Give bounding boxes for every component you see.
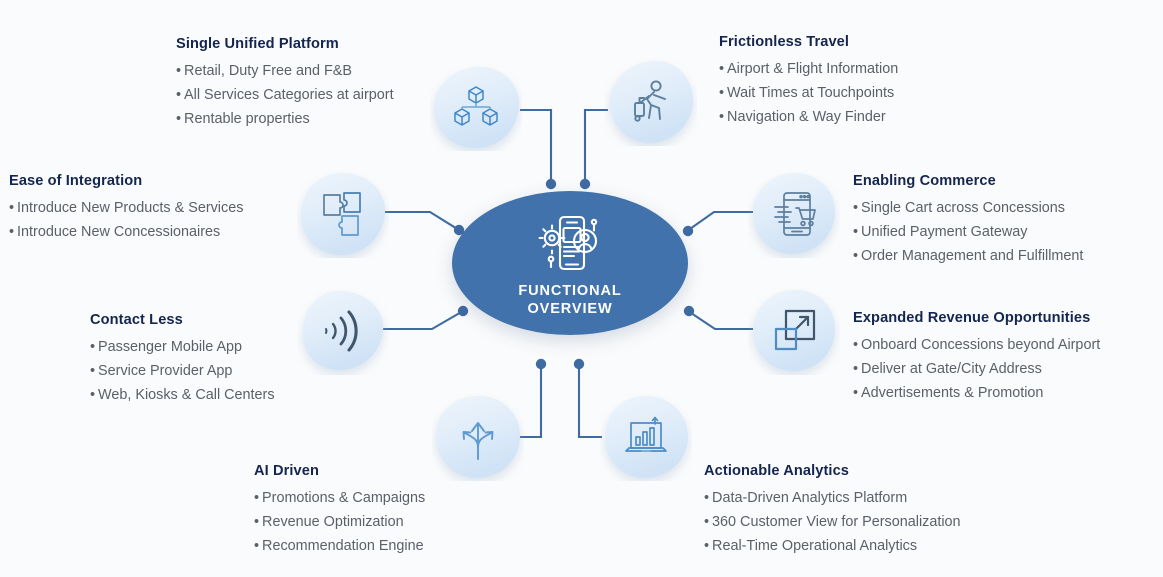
- icon-bubble-ease-of-integration[interactable]: [297, 170, 389, 258]
- expand-arrow-icon: [770, 307, 818, 355]
- puzzle-pieces-icon: [319, 190, 367, 238]
- bullets-enabling-commerce: •Single Cart across Concessions •Unified…: [853, 196, 1083, 268]
- bullet-text: Web, Kiosks & Call Centers: [98, 387, 274, 403]
- center-node-functional-overview[interactable]: FUNCTIONAL OVERVIEW: [452, 191, 688, 335]
- bullet-text: Single Cart across Concessions: [861, 200, 1065, 216]
- list-item: •Onboard Concessions beyond Airport: [853, 333, 1100, 357]
- bullet-glyph: •: [853, 385, 858, 401]
- list-item: •Airport & Flight Information: [719, 57, 898, 81]
- center-label-line1: FUNCTIONAL: [518, 283, 621, 299]
- bullet-glyph: •: [704, 538, 709, 554]
- text-block-enabling-commerce: Enabling Commerce •Single Cart across Co…: [853, 173, 1083, 268]
- bullet-glyph: •: [704, 490, 709, 506]
- bullet-text: All Services Categories at airport: [184, 87, 394, 103]
- bullet-glyph: •: [176, 87, 181, 103]
- branching-arrows-icon: [454, 413, 502, 461]
- text-block-expanded-revenue-opportunities: Expanded Revenue Opportunities •Onboard …: [853, 310, 1100, 405]
- bullet-text: Introduce New Products & Services: [17, 200, 243, 216]
- bullet-glyph: •: [853, 224, 858, 240]
- center-label-line2: OVERVIEW: [527, 301, 612, 317]
- bullet-text: 360 Customer View for Personalization: [712, 514, 961, 530]
- bullet-text: Onboard Concessions beyond Airport: [861, 337, 1100, 353]
- bullet-text: Wait Times at Touchpoints: [727, 85, 894, 101]
- bullet-glyph: •: [853, 337, 858, 353]
- bullet-text: Promotions & Campaigns: [262, 490, 425, 506]
- list-item: •Web, Kiosks & Call Centers: [90, 383, 275, 407]
- bullets-expanded-revenue-opportunities: •Onboard Concessions beyond Airport •Del…: [853, 333, 1100, 405]
- laptop-bar-chart-icon: [622, 413, 670, 461]
- bullet-glyph: •: [853, 200, 858, 216]
- list-item: •Revenue Optimization: [254, 510, 425, 534]
- heading-ease-of-integration: Ease of Integration: [9, 173, 243, 190]
- list-item: •Advertisements & Promotion: [853, 381, 1100, 405]
- bullet-text: Service Provider App: [98, 363, 232, 379]
- heading-contact-less: Contact Less: [90, 312, 275, 329]
- bullet-text: Data-Driven Analytics Platform: [712, 490, 907, 506]
- bullets-single-unified-platform: •Retail, Duty Free and F&B •All Services…: [176, 59, 394, 131]
- bullet-glyph: •: [254, 490, 259, 506]
- diagram-canvas: FUNCTIONAL OVERVIEW: [0, 0, 1163, 577]
- bullet-text: Unified Payment Gateway: [861, 224, 1027, 240]
- bullet-glyph: •: [719, 109, 724, 125]
- bullet-glyph: •: [254, 514, 259, 530]
- text-block-actionable-analytics: Actionable Analytics •Data-Driven Analyt…: [704, 463, 961, 558]
- list-item: •Wait Times at Touchpoints: [719, 81, 898, 105]
- bullet-glyph: •: [719, 85, 724, 101]
- bullet-glyph: •: [9, 224, 14, 240]
- bullet-glyph: •: [176, 111, 181, 127]
- list-item: •Order Management and Fulfillment: [853, 244, 1083, 268]
- bullet-glyph: •: [90, 387, 95, 403]
- bullet-glyph: •: [254, 538, 259, 554]
- list-item: •Service Provider App: [90, 359, 275, 383]
- connected-cubes-icon: [452, 83, 500, 131]
- heading-enabling-commerce: Enabling Commerce: [853, 173, 1083, 190]
- bullet-glyph: •: [90, 363, 95, 379]
- bullet-text: Recommendation Engine: [262, 538, 424, 554]
- list-item: •Rentable properties: [176, 107, 394, 131]
- text-block-frictionless-travel: Frictionless Travel •Airport & Flight In…: [719, 34, 898, 129]
- traveler-luggage-icon: [627, 78, 675, 126]
- text-block-single-unified-platform: Single Unified Platform •Retail, Duty Fr…: [176, 36, 394, 131]
- bullet-text: Airport & Flight Information: [727, 61, 898, 77]
- bullet-text: Passenger Mobile App: [98, 339, 242, 355]
- mobile-gear-user-icon: [535, 211, 605, 275]
- contactless-waves-icon: [319, 307, 367, 355]
- icon-bubble-enabling-commerce[interactable]: [748, 170, 840, 258]
- icon-bubble-contact-less[interactable]: [297, 287, 389, 375]
- bullets-frictionless-travel: •Airport & Flight Information •Wait Time…: [719, 57, 898, 129]
- list-item: •Deliver at Gate/City Address: [853, 357, 1100, 381]
- list-item: •Promotions & Campaigns: [254, 486, 425, 510]
- bullet-text: Order Management and Fulfillment: [861, 248, 1083, 264]
- heading-frictionless-travel: Frictionless Travel: [719, 34, 898, 51]
- list-item: •Navigation & Way Finder: [719, 105, 898, 129]
- list-item: •360 Customer View for Personalization: [704, 510, 961, 534]
- bullets-actionable-analytics: •Data-Driven Analytics Platform •360 Cus…: [704, 486, 961, 558]
- text-block-ai-driven: AI Driven •Promotions & Campaigns •Reven…: [254, 463, 425, 558]
- mobile-cart-icon: [770, 190, 818, 238]
- bullet-glyph: •: [704, 514, 709, 530]
- icon-bubble-frictionless-travel[interactable]: [605, 58, 697, 146]
- list-item: •Introduce New Products & Services: [9, 196, 243, 220]
- heading-actionable-analytics: Actionable Analytics: [704, 463, 961, 480]
- bullet-glyph: •: [853, 361, 858, 377]
- icon-bubble-expanded-revenue-opportunities[interactable]: [748, 287, 840, 375]
- list-item: •Data-Driven Analytics Platform: [704, 486, 961, 510]
- bullet-text: Rentable properties: [184, 111, 310, 127]
- bullets-ai-driven: •Promotions & Campaigns •Revenue Optimiz…: [254, 486, 425, 558]
- heading-expanded-revenue-opportunities: Expanded Revenue Opportunities: [853, 310, 1100, 327]
- list-item: •All Services Categories at airport: [176, 83, 394, 107]
- bullet-text: Retail, Duty Free and F&B: [184, 63, 352, 79]
- bullet-glyph: •: [853, 248, 858, 264]
- list-item: •Passenger Mobile App: [90, 335, 275, 359]
- list-item: •Introduce New Concessionaires: [9, 220, 243, 244]
- center-label: FUNCTIONAL OVERVIEW: [518, 282, 621, 318]
- bullet-text: Revenue Optimization: [262, 514, 404, 530]
- text-block-ease-of-integration: Ease of Integration •Introduce New Produ…: [9, 173, 243, 244]
- bullet-text: Navigation & Way Finder: [727, 109, 886, 125]
- bullet-glyph: •: [9, 200, 14, 216]
- icon-bubble-ai-driven[interactable]: [432, 393, 524, 481]
- list-item: •Unified Payment Gateway: [853, 220, 1083, 244]
- bullet-text: Introduce New Concessionaires: [17, 224, 220, 240]
- icon-bubble-actionable-analytics[interactable]: [600, 393, 692, 481]
- bullet-glyph: •: [176, 63, 181, 79]
- heading-ai-driven: AI Driven: [254, 463, 425, 480]
- bullet-glyph: •: [719, 61, 724, 77]
- heading-single-unified-platform: Single Unified Platform: [176, 36, 394, 53]
- bullet-glyph: •: [90, 339, 95, 355]
- list-item: •Recommendation Engine: [254, 534, 425, 558]
- bullet-text: Advertisements & Promotion: [861, 385, 1043, 401]
- icon-bubble-single-unified-platform[interactable]: [430, 63, 522, 151]
- bullets-contact-less: •Passenger Mobile App •Service Provider …: [90, 335, 275, 407]
- bullet-text: Real-Time Operational Analytics: [712, 538, 917, 554]
- bullet-text: Deliver at Gate/City Address: [861, 361, 1042, 377]
- list-item: •Single Cart across Concessions: [853, 196, 1083, 220]
- list-item: •Real-Time Operational Analytics: [704, 534, 961, 558]
- bullets-ease-of-integration: •Introduce New Products & Services •Intr…: [9, 196, 243, 244]
- list-item: •Retail, Duty Free and F&B: [176, 59, 394, 83]
- text-block-contact-less: Contact Less •Passenger Mobile App •Serv…: [90, 312, 275, 407]
